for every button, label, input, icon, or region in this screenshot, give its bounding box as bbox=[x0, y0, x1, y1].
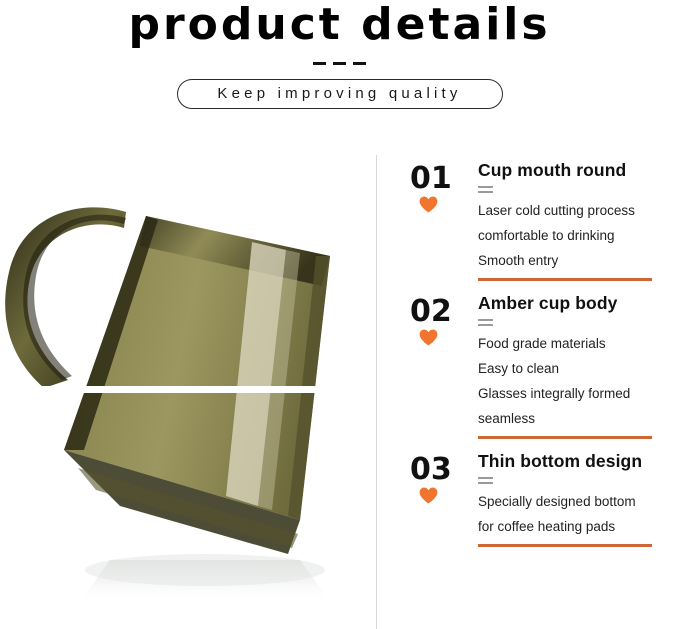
product-details-page: product details Keep improving quality bbox=[0, 0, 679, 629]
title-dash-ornament bbox=[0, 58, 679, 68]
feature-body: Thin bottom design Specially designed bo… bbox=[478, 451, 679, 547]
dash-mark bbox=[333, 62, 346, 65]
equals-mark-icon bbox=[478, 186, 493, 194]
tagline-badge: Keep improving quality bbox=[177, 79, 503, 109]
feature-title: Thin bottom design bbox=[478, 451, 679, 471]
equals-mark-icon bbox=[478, 319, 493, 327]
feature-title: Cup mouth round bbox=[478, 160, 679, 180]
feature-item: 01 Cup mouth round Laser cold cutting pr… bbox=[400, 160, 679, 281]
column-divider bbox=[376, 155, 377, 629]
tagline-badge-wrap: Keep improving quality bbox=[0, 79, 679, 109]
product-photo bbox=[0, 150, 372, 629]
dash-mark bbox=[313, 62, 326, 65]
feature-list: 01 Cup mouth round Laser cold cutting pr… bbox=[400, 160, 679, 547]
feature-title: Amber cup body bbox=[478, 293, 679, 313]
heart-icon bbox=[400, 329, 478, 346]
feature-line: for coffee heating pads bbox=[478, 514, 679, 539]
page-title: product details bbox=[0, 0, 679, 48]
feature-line: Food grade materials bbox=[478, 331, 679, 356]
mug-illustration bbox=[0, 150, 372, 629]
page-header: product details Keep improving quality bbox=[0, 0, 679, 109]
heart-icon bbox=[400, 487, 478, 504]
feature-number-column: 01 bbox=[400, 160, 478, 213]
equals-mark-icon bbox=[478, 477, 493, 485]
feature-underline bbox=[478, 436, 652, 439]
mug-reflection bbox=[80, 554, 330, 602]
feature-underline bbox=[478, 544, 652, 547]
feature-lines: Laser cold cutting process comfortable t… bbox=[478, 198, 679, 273]
feature-item: 02 Amber cup body Food grade materials E… bbox=[400, 293, 679, 439]
feature-line: seamless bbox=[478, 406, 679, 431]
feature-line: Laser cold cutting process bbox=[478, 198, 679, 223]
feature-line: comfortable to drinking bbox=[478, 223, 679, 248]
feature-body: Amber cup body Food grade materials Easy… bbox=[478, 293, 679, 439]
dash-mark bbox=[353, 62, 366, 65]
feature-number: 01 bbox=[400, 164, 478, 194]
feature-line: Easy to clean bbox=[478, 356, 679, 381]
feature-number: 02 bbox=[400, 297, 478, 327]
feature-number-column: 03 bbox=[400, 451, 478, 504]
feature-body: Cup mouth round Laser cold cutting proce… bbox=[478, 160, 679, 281]
image-seam bbox=[0, 386, 372, 393]
feature-number-column: 02 bbox=[400, 293, 478, 346]
feature-underline bbox=[478, 278, 652, 281]
feature-lines: Specially designed bottom for coffee hea… bbox=[478, 489, 679, 539]
feature-lines: Food grade materials Easy to clean Glass… bbox=[478, 331, 679, 431]
heart-icon bbox=[400, 196, 478, 213]
feature-line: Specially designed bottom bbox=[478, 489, 679, 514]
feature-line: Glasses integrally formed bbox=[478, 381, 679, 406]
feature-item: 03 Thin bottom design Specially designed… bbox=[400, 451, 679, 547]
feature-line: Smooth entry bbox=[478, 248, 679, 273]
feature-number: 03 bbox=[400, 455, 478, 485]
